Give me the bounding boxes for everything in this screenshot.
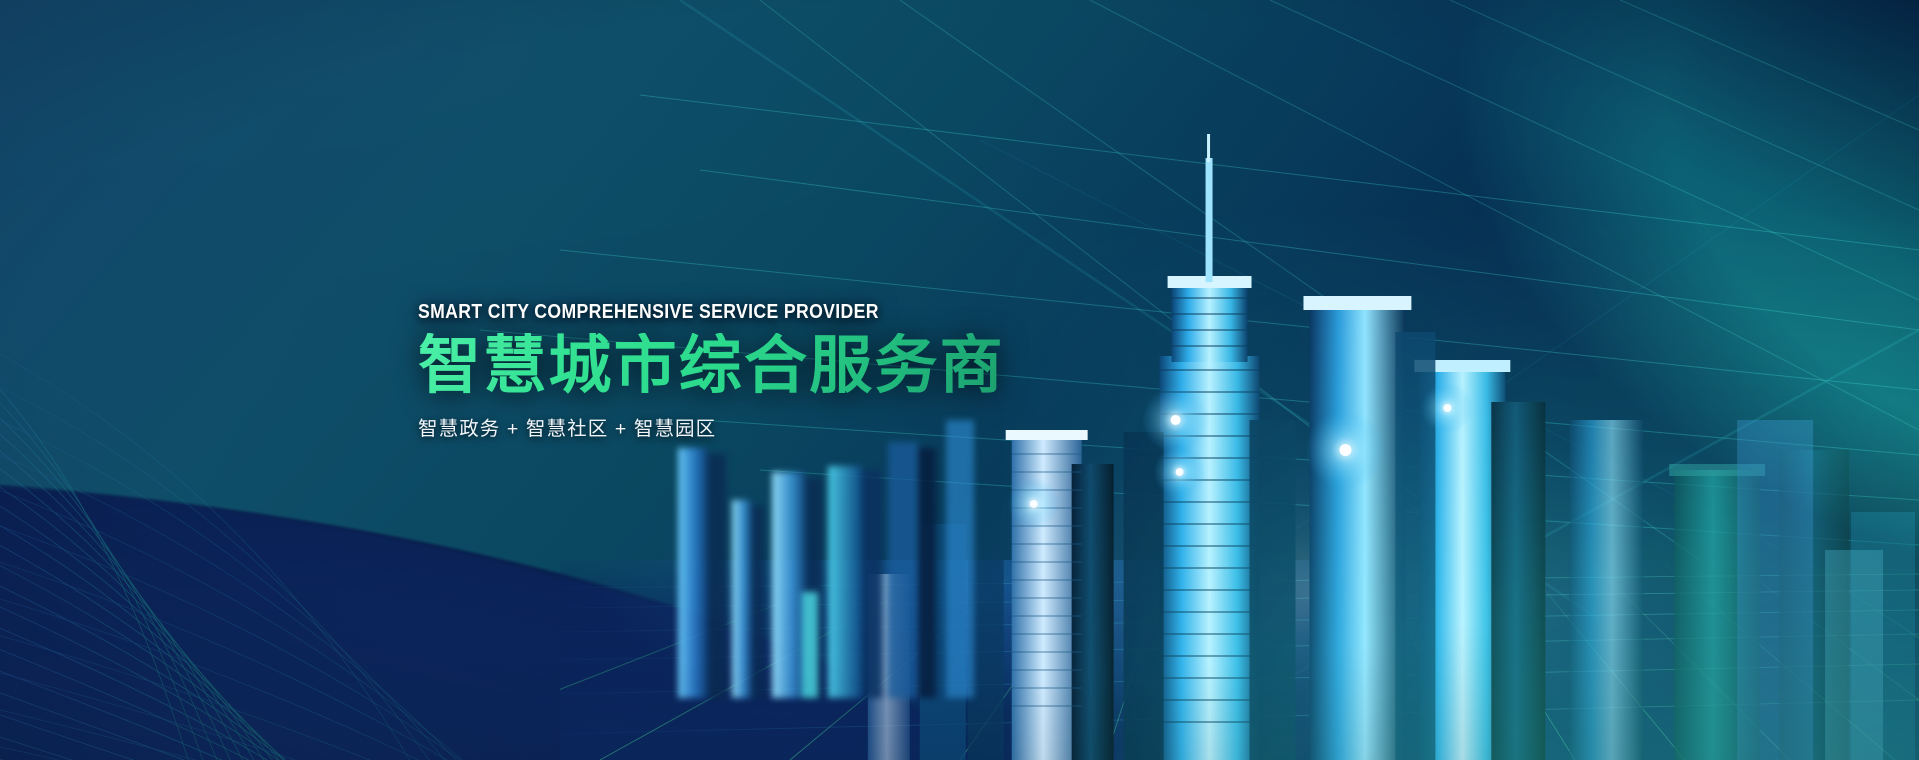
wireframe-mesh-decoration	[0, 200, 910, 760]
hero-subtitle-services: 智慧政务 + 智慧社区 + 智慧园区	[418, 412, 1005, 441]
foreground-building-slabs	[660, 400, 1080, 720]
perspective-ground-grid	[560, 560, 1919, 760]
smart-city-hero-banner: SMART CITY COMPREHENSIVE SERVICE PROVIDE…	[0, 0, 1919, 760]
hero-eyebrow-english: SMART CITY COMPREHENSIVE SERVICE PROVIDE…	[418, 300, 923, 324]
hero-text-block: SMART CITY COMPREHENSIVE SERVICE PROVIDE…	[418, 300, 1005, 441]
hero-headline-chinese: 智慧城市综合服务商	[418, 333, 1005, 400]
